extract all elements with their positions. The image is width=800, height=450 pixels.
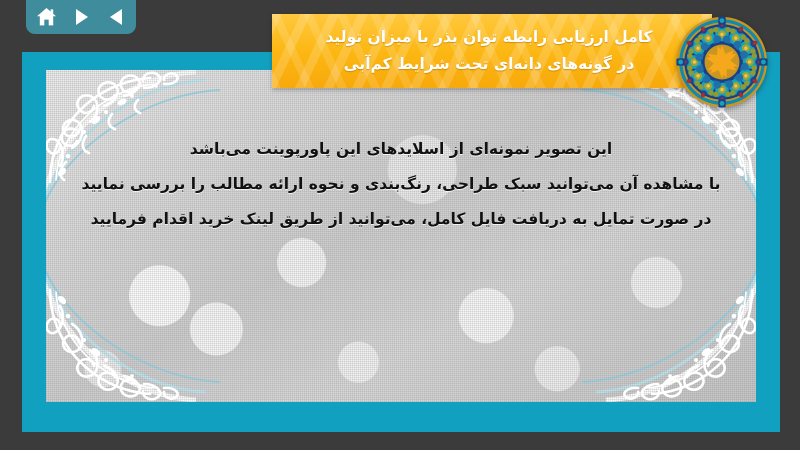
slide-body-text: این تصویر نمونه‌ای از اسلایدهای این پاور… bbox=[62, 132, 740, 237]
body-line-1: این تصویر نمونه‌ای از اسلایدهای این پاور… bbox=[62, 132, 740, 167]
slide-title-banner: کامل ارزیابی رابطه توان بذر با میزان تول… bbox=[272, 14, 712, 88]
title-line-1: کامل ارزیابی رابطه توان بذر با میزان تول… bbox=[325, 24, 658, 51]
title-line-2: در گونه‌های دانه‌ای تحت شرایط کم‌آبی bbox=[344, 51, 641, 78]
home-button[interactable] bbox=[35, 6, 57, 28]
triangle-right-icon bbox=[73, 8, 90, 26]
corner-sweep-bottom-left bbox=[46, 254, 274, 402]
slide-viewer: این تصویر نمونه‌ای از اسلایدهای این پاور… bbox=[0, 0, 800, 450]
home-icon bbox=[36, 7, 57, 27]
body-line-2: با مشاهده آن می‌توانید سبک طراحی، رنگ‌بن… bbox=[62, 167, 740, 202]
persian-mandala-medallion-icon bbox=[676, 16, 768, 108]
viewer-navigation-bar bbox=[26, 0, 136, 34]
body-line-3: در صورت تمایل به دریافت فایل کامل، می‌تو… bbox=[62, 202, 740, 237]
next-slide-button[interactable] bbox=[70, 6, 92, 28]
corner-sweep-bottom-right bbox=[528, 254, 756, 402]
slide-canvas: این تصویر نمونه‌ای از اسلایدهای این پاور… bbox=[22, 52, 780, 432]
triangle-left-icon bbox=[108, 8, 125, 26]
previous-slide-button[interactable] bbox=[105, 6, 127, 28]
